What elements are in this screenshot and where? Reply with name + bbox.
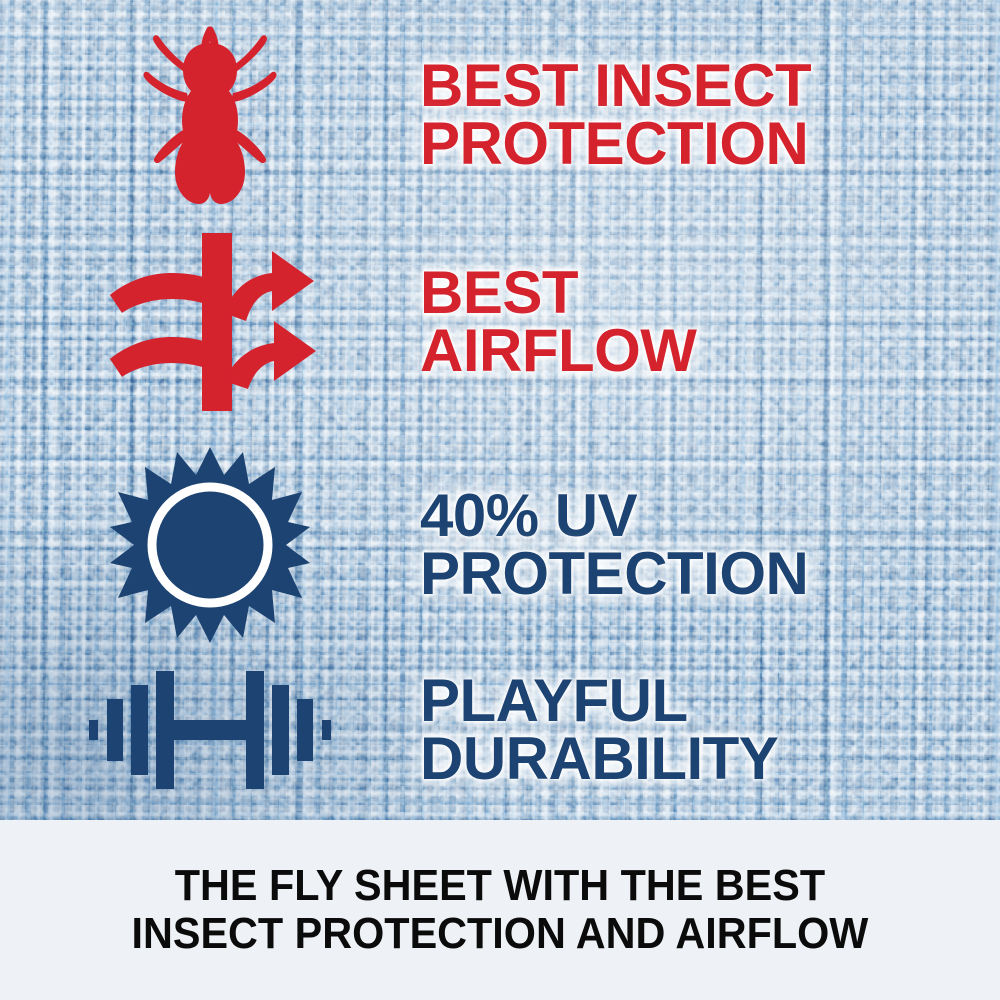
- feature-text-cell: BEST INSECT PROTECTION: [420, 57, 1000, 173]
- feature-headline: BEST INSECT PROTECTION: [420, 57, 1000, 173]
- feature-icon-cell: [0, 445, 420, 645]
- footer-caption-line2: INSECT PROTECTION AND AIRFLOW: [132, 910, 869, 958]
- feature-headline-line1: BEST INSECT: [420, 57, 1000, 115]
- dumbbell-icon: [85, 665, 335, 795]
- feature-headline-line1: BEST: [420, 264, 1000, 322]
- feature-headline-line2: AIRFLOW: [420, 322, 1000, 380]
- feature-headline-line1: 40% UV: [420, 487, 1000, 545]
- feature-icon-cell: [0, 23, 420, 208]
- feature-headline-line2: PROTECTION: [420, 115, 1000, 173]
- feature-headline-line2: PROTECTION: [420, 545, 1000, 603]
- feature-row-insect-protection: BEST INSECT PROTECTION: [0, 10, 1000, 220]
- feature-headline-line1: PLAYFUL: [420, 672, 1000, 730]
- feature-icon-cell: [0, 665, 420, 795]
- fly-icon: [135, 23, 285, 208]
- airflow-icon: [104, 229, 316, 415]
- feature-headline: PLAYFUL DURABILITY: [420, 672, 1000, 788]
- feature-row-uv-protection: 40% UV PROTECTION: [0, 440, 1000, 650]
- feature-headline: 40% UV PROTECTION: [420, 487, 1000, 603]
- product-feature-poster: BEST INSECT PROTECTION: [0, 0, 1000, 1000]
- feature-row-airflow: BEST AIRFLOW: [0, 222, 1000, 422]
- feature-row-durability: PLAYFUL DURABILITY: [0, 655, 1000, 805]
- feature-headline: BEST AIRFLOW: [420, 264, 1000, 380]
- sun-uv-icon: [110, 445, 310, 645]
- feature-text-cell: 40% UV PROTECTION: [420, 487, 1000, 603]
- footer-caption-line1: THE FLY SHEET WITH THE BEST: [175, 862, 825, 910]
- feature-icon-cell: [0, 229, 420, 415]
- feature-text-cell: PLAYFUL DURABILITY: [420, 672, 1000, 788]
- feature-text-cell: BEST AIRFLOW: [420, 264, 1000, 380]
- footer-caption-band: THE FLY SHEET WITH THE BEST INSECT PROTE…: [0, 820, 1000, 1000]
- feature-headline-line2: DURABILITY: [420, 730, 1000, 788]
